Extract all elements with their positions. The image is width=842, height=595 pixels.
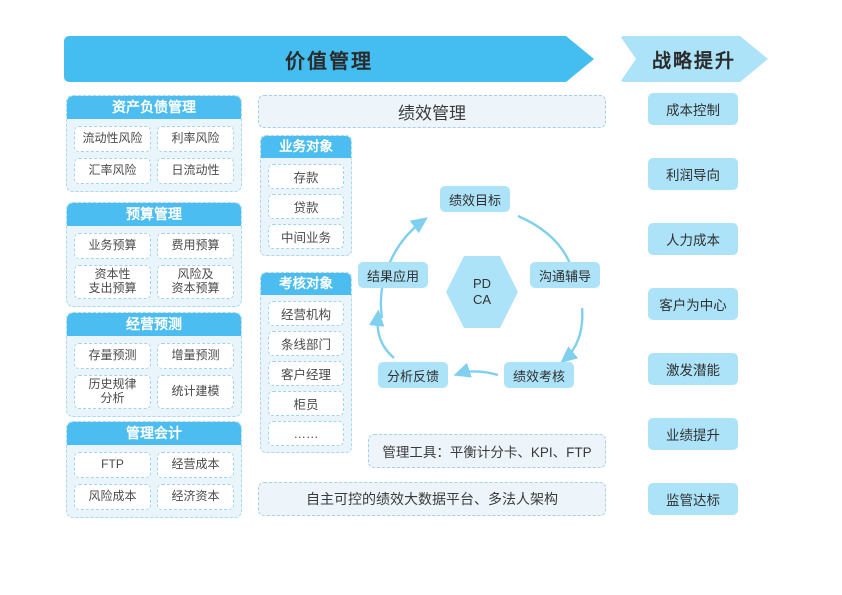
pdca-node-assessment: 绩效考核 bbox=[504, 362, 574, 388]
platform-box: 自主可控的绩效大数据平台、多法人架构 bbox=[258, 482, 606, 516]
object-card-item[interactable]: 条线部门 bbox=[268, 331, 344, 356]
object-card-title: 业务对象 bbox=[261, 136, 351, 158]
object-card: 业务对象存款贷款中间业务 bbox=[260, 135, 352, 256]
object-card-item[interactable]: 贷款 bbox=[268, 194, 344, 219]
sidebar-card-item[interactable]: 业务预算 bbox=[74, 233, 151, 259]
object-card-items: 存款贷款中间业务 bbox=[261, 164, 351, 249]
pdca-node-result: 结果应用 bbox=[358, 262, 428, 288]
pdca-node-communication: 沟通辅导 bbox=[530, 262, 600, 288]
sidebar-card-items: 存量预测增量预测历史规律分析统计建模 bbox=[67, 343, 241, 409]
sidebar-card-item[interactable]: 风险成本 bbox=[74, 484, 151, 510]
sidebar-card-item[interactable]: 增量预测 bbox=[157, 343, 234, 369]
pdca-node-analysis: 分析反馈 bbox=[378, 362, 448, 388]
banner-strategy-upgrade: 战略提升 bbox=[620, 36, 768, 82]
sidebar-card-title: 经营预测 bbox=[67, 313, 241, 336]
pdca-center-line2: CA bbox=[473, 292, 491, 308]
strategy-outcome-item[interactable]: 客户为中心 bbox=[648, 288, 738, 320]
sidebar-card-items: FTP经营成本风险成本经济资本 bbox=[67, 452, 241, 510]
pdca-center-line1: PD bbox=[473, 276, 491, 292]
sidebar-card: 管理会计FTP经营成本风险成本经济资本 bbox=[66, 421, 242, 518]
sidebar-card: 预算管理业务预算费用预算资本性支出预算风险及资本预算 bbox=[66, 202, 242, 307]
diagram-root: 价值管理 战略提升 资产负债管理流动性风险利率风险汇率风险日流动性预算管理业务预… bbox=[0, 0, 842, 595]
sidebar-card-items: 流动性风险利率风险汇率风险日流动性 bbox=[67, 126, 241, 184]
pdca-cycle: 绩效目标 沟通辅导 绩效考核 分析反馈 结果应用 PD CA bbox=[358, 168, 618, 400]
sidebar-card-title: 资产负债管理 bbox=[67, 96, 241, 119]
arrow-assessment-to-analysis bbox=[458, 371, 498, 375]
sidebar-card-item[interactable]: 资本性支出预算 bbox=[74, 265, 151, 299]
sidebar-card-item[interactable]: 经济资本 bbox=[157, 484, 234, 510]
strategy-outcome-item[interactable]: 监管达标 bbox=[648, 483, 738, 515]
sidebar-card-item[interactable]: 费用预算 bbox=[157, 233, 234, 259]
strategy-outcome-item[interactable]: 人力成本 bbox=[648, 223, 738, 255]
object-card-item[interactable]: 客户经理 bbox=[268, 361, 344, 386]
arrow-analysis-to-result bbox=[378, 314, 394, 358]
management-tools-box: 管理工具：平衡计分卡、KPI、FTP bbox=[368, 434, 606, 468]
object-card-item[interactable]: 经营机构 bbox=[268, 301, 344, 326]
strategy-outcome-item[interactable]: 成本控制 bbox=[648, 93, 738, 125]
sidebar-card-item[interactable]: 利率风险 bbox=[157, 126, 234, 152]
sidebar-card-item[interactable]: FTP bbox=[74, 452, 151, 478]
object-card: 考核对象经营机构条线部门客户经理柜员…… bbox=[260, 272, 352, 453]
strategy-outcome-item[interactable]: 业绩提升 bbox=[648, 418, 738, 450]
sidebar-card-item[interactable]: 存量预测 bbox=[74, 343, 151, 369]
sidebar-card-item[interactable]: 历史规律分析 bbox=[74, 375, 151, 409]
sidebar-card-item[interactable]: 汇率风险 bbox=[74, 158, 151, 184]
sidebar-card-item[interactable]: 流动性风险 bbox=[74, 126, 151, 152]
strategy-outcome-item[interactable]: 激发潜能 bbox=[648, 353, 738, 385]
object-card-item[interactable]: 中间业务 bbox=[268, 224, 344, 249]
sidebar-card-title: 预算管理 bbox=[67, 203, 241, 226]
sidebar-card: 经营预测存量预测增量预测历史规律分析统计建模 bbox=[66, 312, 242, 417]
sidebar-card-title: 管理会计 bbox=[67, 422, 241, 445]
object-card-title: 考核对象 bbox=[261, 273, 351, 295]
object-card-item[interactable]: 柜员 bbox=[268, 391, 344, 416]
performance-management-header: 绩效管理 bbox=[258, 95, 606, 128]
object-card-item[interactable]: …… bbox=[268, 421, 344, 446]
sidebar-card: 资产负债管理流动性风险利率风险汇率风险日流动性 bbox=[66, 95, 242, 192]
pdca-node-goal: 绩效目标 bbox=[440, 186, 510, 212]
sidebar-card-item[interactable]: 日流动性 bbox=[157, 158, 234, 184]
sidebar-card-items: 业务预算费用预算资本性支出预算风险及资本预算 bbox=[67, 233, 241, 299]
object-card-items: 经营机构条线部门客户经理柜员…… bbox=[261, 301, 351, 446]
banner-value-management: 价值管理 bbox=[64, 36, 594, 82]
object-card-item[interactable]: 存款 bbox=[268, 164, 344, 189]
sidebar-card-item[interactable]: 经营成本 bbox=[157, 452, 234, 478]
sidebar-card-item[interactable]: 统计建模 bbox=[157, 375, 234, 409]
sidebar-card-item[interactable]: 风险及资本预算 bbox=[157, 265, 234, 299]
strategy-outcome-item[interactable]: 利润导向 bbox=[648, 158, 738, 190]
arrow-communication-to-assessment bbox=[564, 308, 582, 360]
